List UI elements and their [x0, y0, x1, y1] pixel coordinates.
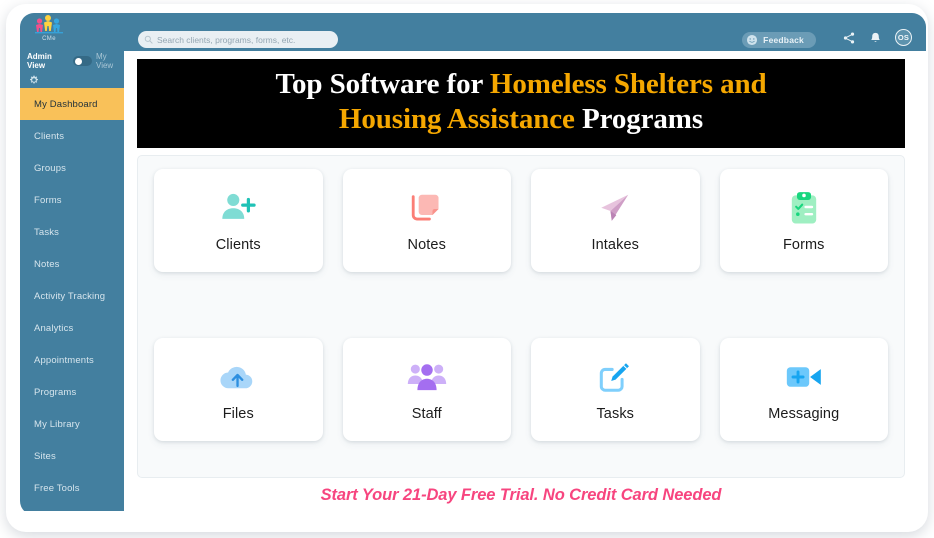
main-content: Top Software for Homeless Shelters and H… [124, 51, 926, 515]
card-label: Tasks [596, 406, 634, 422]
sidebar-item-tasks[interactable]: Tasks [20, 216, 124, 248]
banner-line1-plain: Top Software for [275, 68, 489, 100]
banner-line2-plain: Programs [575, 103, 703, 135]
card-label: Staff [412, 406, 442, 422]
view-mode-toggle[interactable] [73, 56, 92, 66]
card-messaging[interactable]: Messaging [720, 338, 889, 441]
quick-actions-grid: Clients Notes [137, 155, 905, 478]
sidebar-item-label: Appointments [34, 355, 94, 366]
sidebar: Admin View My View My Dashboard Clients [20, 51, 124, 511]
card-label: Intakes [592, 237, 639, 253]
cloud-upload-icon [218, 357, 258, 397]
my-view-label: My View [96, 52, 124, 70]
sidebar-item-clients[interactable]: Clients [20, 120, 124, 152]
sidebar-item-groups[interactable]: Groups [20, 152, 124, 184]
share-icon[interactable] [842, 31, 856, 45]
paper-plane-icon [597, 188, 633, 228]
people-logo-svg [26, 15, 72, 37]
banner-line2-highlight: Housing Assistance [339, 103, 575, 135]
app-window: CMe Feedback [0, 0, 934, 538]
user-avatar[interactable]: OS [895, 29, 912, 46]
sidebar-nav: My Dashboard Clients Groups Forms Tasks … [20, 88, 124, 504]
search-input[interactable] [157, 35, 332, 45]
card-label: Clients [216, 237, 261, 253]
top-app-bar: CMe Feedback [20, 13, 926, 51]
search-icon [144, 35, 153, 44]
sidebar-item-appointments[interactable]: Appointments [20, 344, 124, 376]
banner-line1-highlight: Homeless Shelters and [490, 68, 767, 100]
sidebar-item-label: Sites [34, 451, 56, 462]
card-intakes[interactable]: Intakes [531, 169, 700, 272]
card-label: Files [223, 406, 254, 422]
sidebar-item-label: Free Tools [34, 483, 80, 494]
smiley-chat-icon [746, 34, 758, 46]
sidebar-item-label: My Library [34, 419, 80, 430]
edit-square-icon [598, 357, 632, 397]
sidebar-item-label: Forms [34, 195, 62, 206]
add-person-icon [219, 188, 257, 228]
people-group-icon [407, 357, 447, 397]
notification-bell-icon[interactable] [869, 31, 882, 45]
sidebar-item-sites[interactable]: Sites [20, 440, 124, 472]
sidebar-item-programs[interactable]: Programs [20, 376, 124, 408]
sidebar-item-label: Groups [34, 163, 66, 174]
card-files[interactable]: Files [154, 338, 323, 441]
sidebar-item-label: Tasks [34, 227, 59, 238]
browser-frame: CMe Feedback [6, 4, 928, 532]
card-forms[interactable]: Forms [720, 169, 889, 272]
card-label: Forms [783, 237, 825, 253]
notes-stack-icon [410, 188, 444, 228]
sidebar-item-my-dashboard[interactable]: My Dashboard [20, 88, 124, 120]
sidebar-item-label: Programs [34, 387, 76, 398]
app-viewport: CMe Feedback [20, 13, 926, 515]
feedback-button[interactable]: Feedback [742, 32, 816, 48]
clipboard-check-icon [789, 188, 819, 228]
admin-view-toggle-row[interactable]: Admin View My View [20, 51, 124, 71]
feedback-label: Feedback [763, 35, 804, 45]
video-add-icon [785, 357, 823, 397]
sidebar-item-label: Activity Tracking [34, 291, 105, 302]
app-logo[interactable]: CMe [26, 15, 72, 49]
settings-row[interactable] [20, 71, 124, 88]
card-label: Notes [408, 237, 446, 253]
card-staff[interactable]: Staff [343, 338, 512, 441]
gear-icon[interactable] [29, 75, 39, 85]
promo-banner: Top Software for Homeless Shelters and H… [137, 59, 905, 148]
sidebar-item-notes[interactable]: Notes [20, 248, 124, 280]
people-logo-icon [26, 15, 72, 37]
card-label: Messaging [768, 406, 839, 422]
sidebar-item-analytics[interactable]: Analytics [20, 312, 124, 344]
logo-wordmark: CMe [26, 36, 72, 42]
sidebar-item-label: Clients [34, 131, 64, 142]
sidebar-item-my-library[interactable]: My Library [20, 408, 124, 440]
sidebar-item-activity-tracking[interactable]: Activity Tracking [20, 280, 124, 312]
free-trial-cta: Start Your 21-Day Free Trial. No Credit … [137, 486, 905, 505]
card-tasks[interactable]: Tasks [531, 338, 700, 441]
sidebar-item-free-tools[interactable]: Free Tools [20, 472, 124, 504]
global-search[interactable] [138, 31, 338, 48]
sidebar-item-label: Notes [34, 259, 60, 270]
sidebar-item-label: My Dashboard [34, 99, 98, 110]
card-clients[interactable]: Clients [154, 169, 323, 272]
admin-view-label: Admin View [27, 52, 69, 70]
topbar-actions: OS [842, 29, 912, 46]
sidebar-item-forms[interactable]: Forms [20, 184, 124, 216]
card-notes[interactable]: Notes [343, 169, 512, 272]
sidebar-item-label: Analytics [34, 323, 73, 334]
toggle-knob [75, 58, 82, 65]
